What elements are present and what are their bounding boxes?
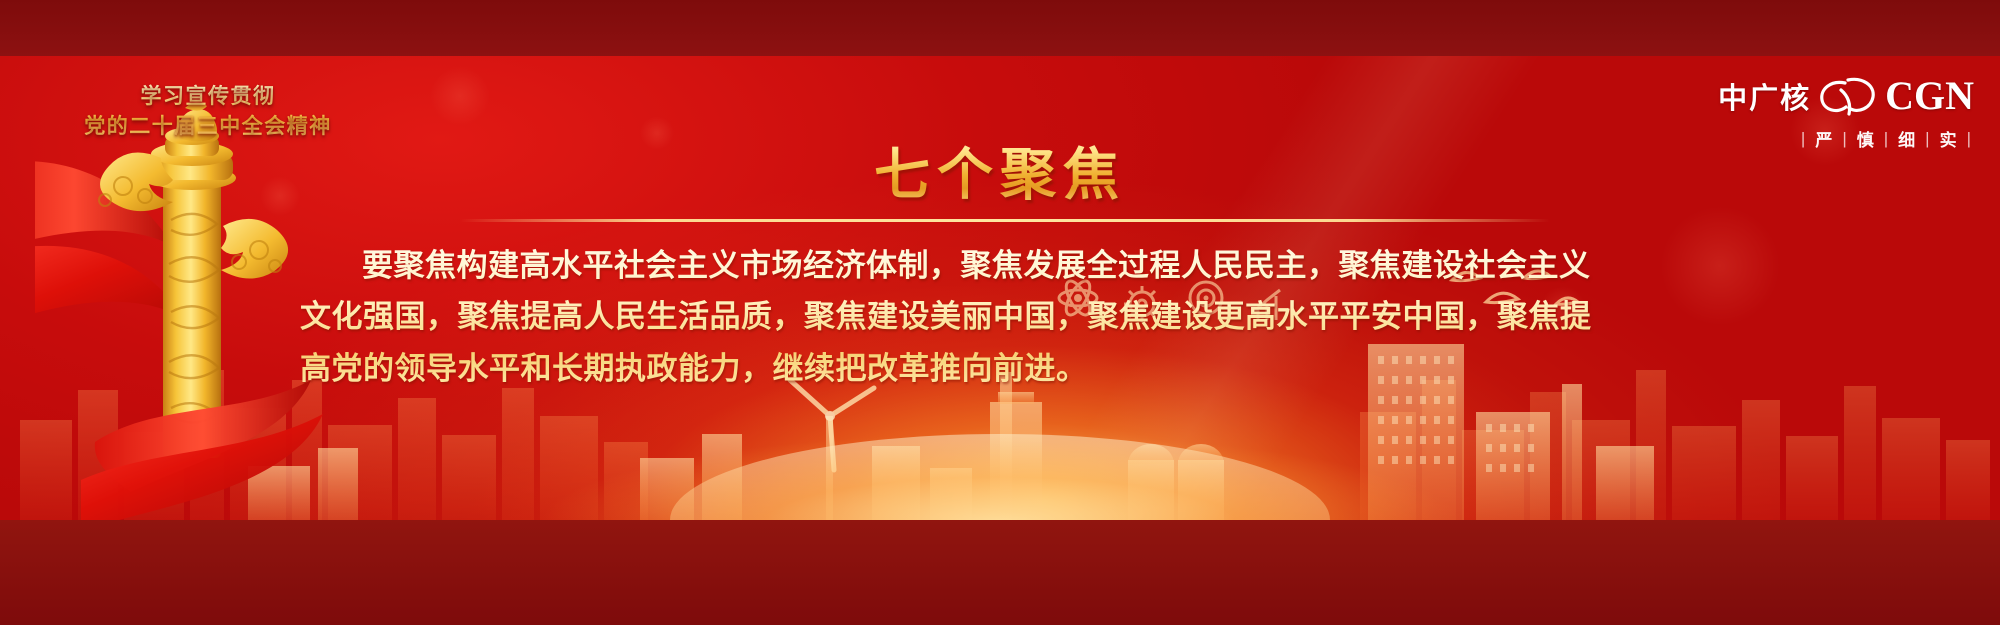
page-title: 七个聚焦 [0, 130, 2000, 211]
logo-english-name: CGN [1885, 72, 1974, 119]
logo-chinese-name: 中广核 [1718, 75, 1811, 117]
top-bar [0, 0, 2000, 56]
cgn-swoosh-icon [1815, 74, 1881, 118]
bottom-bar [0, 520, 2000, 625]
promotional-banner: 学习宣传贯彻 党的二十届三中全会精神 中广核 CGN | 严 | 慎 | 细 |… [0, 0, 2000, 625]
body-line-3: 高党的领导水平和长期执政能力，继续把改革推向前进。 [300, 343, 1720, 394]
bokeh-circle [430, 66, 490, 126]
body-line-2: 文化强国，聚焦提高人民生活品质，聚焦建设美丽中国，聚焦建设更高水平平安中国，聚焦… [300, 291, 1720, 342]
body-paragraph: 要聚焦构建高水平社会主义市场经济体制，聚焦发展全过程人民民主，聚焦建设社会主义 … [300, 240, 1720, 394]
body-line-1: 要聚焦构建高水平社会主义市场经济体制，聚焦发展全过程人民民主，聚焦建设社会主义 [300, 240, 1720, 291]
logo-wordmark: 中广核 CGN [1718, 72, 1974, 119]
gold-divider [460, 219, 1550, 222]
slogan-line-1: 学习宣传贯彻 [58, 82, 358, 112]
